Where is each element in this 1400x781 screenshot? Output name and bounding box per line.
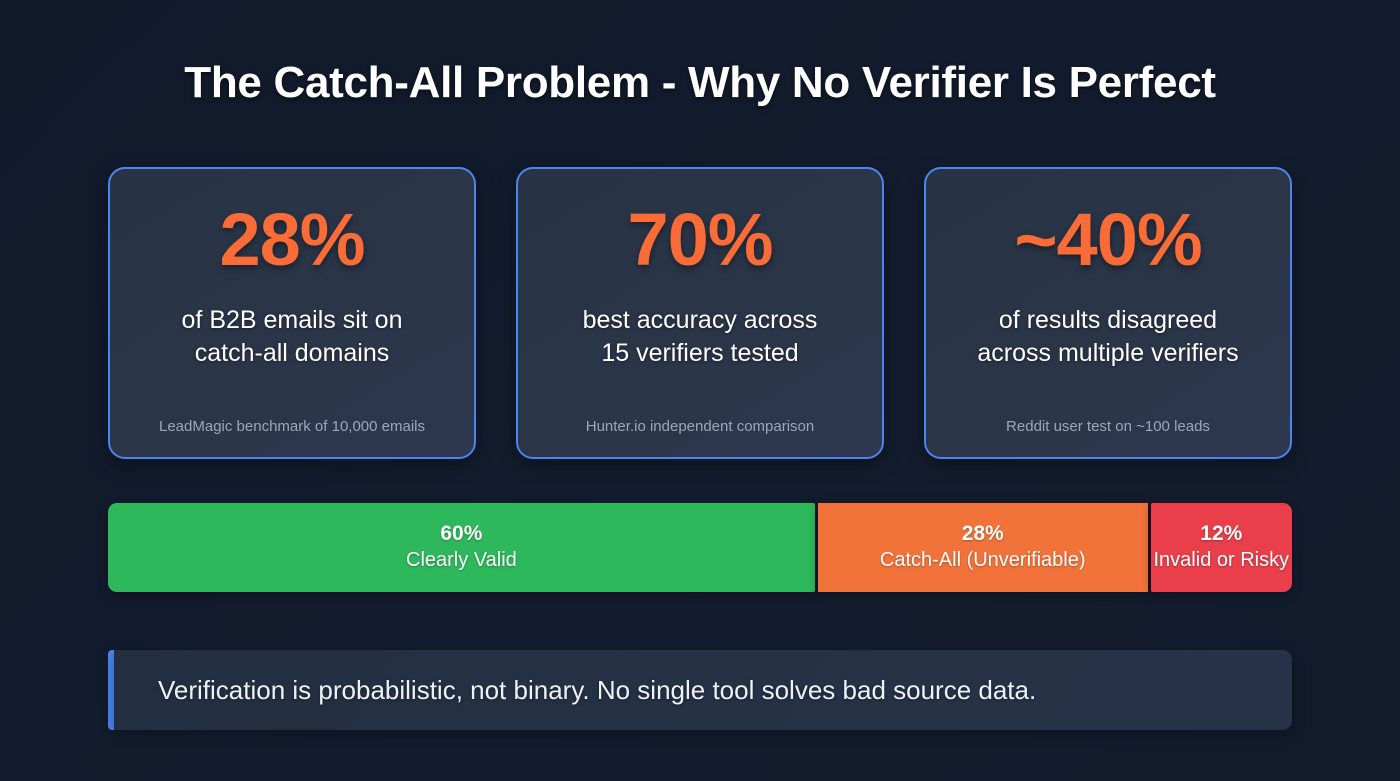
segment-label: Invalid or Risky [1154,547,1290,573]
segment-label: Clearly Valid [406,547,517,573]
segment-invalid-or-risky: 12% Invalid or Risky [1151,503,1292,592]
stat-label-line-1: of results disagreed [977,304,1238,337]
segment-catch-all: 28% Catch-All (Unverifiable) [818,503,1148,592]
stat-label-line-2: 15 verifiers tested [583,337,818,370]
stat-value: 70% [627,203,772,277]
stat-cards-row: 28% of B2B emails sit on catch-all domai… [108,167,1292,459]
stat-label: of B2B emails sit on catch-all domains [182,304,403,371]
stat-value: 28% [219,203,364,277]
segment-label: Catch-All (Unverifiable) [880,547,1086,573]
takeaway-callout: Verification is probabilistic, not binar… [108,650,1292,730]
segment-percent: 12% [1200,522,1242,546]
stat-card-catch-all-share: 28% of B2B emails sit on catch-all domai… [108,167,476,459]
segment-percent: 28% [962,522,1004,546]
stat-label: best accuracy across 15 verifiers tested [583,304,818,371]
stat-label-line-1: best accuracy across [583,304,818,337]
segment-clearly-valid: 60% Clearly Valid [108,503,815,592]
infographic-root: The Catch-All Problem - Why No Verifier … [0,0,1400,781]
segment-percent: 60% [440,522,482,546]
stat-source: Hunter.io independent comparison [586,418,815,435]
stat-source: Reddit user test on ~100 leads [1006,418,1210,435]
distribution-bar: 60% Clearly Valid 28% Catch-All (Unverif… [108,503,1292,592]
stat-label-line-2: across multiple verifiers [977,337,1238,370]
callout-text: Verification is probabilistic, not binar… [158,674,1036,707]
stat-source: LeadMagic benchmark of 10,000 emails [159,418,425,435]
stat-label-line-1: of B2B emails sit on [182,304,403,337]
stat-label-line-2: catch-all domains [182,337,403,370]
page-title: The Catch-All Problem - Why No Verifier … [0,58,1400,108]
stat-card-best-accuracy: 70% best accuracy across 15 verifiers te… [516,167,884,459]
callout-body: Verification is probabilistic, not binar… [114,650,1292,730]
stat-value: ~40% [1014,203,1201,277]
stat-card-results-disagreed: ~40% of results disagreed across multipl… [924,167,1292,459]
stat-label: of results disagreed across multiple ver… [977,304,1238,371]
